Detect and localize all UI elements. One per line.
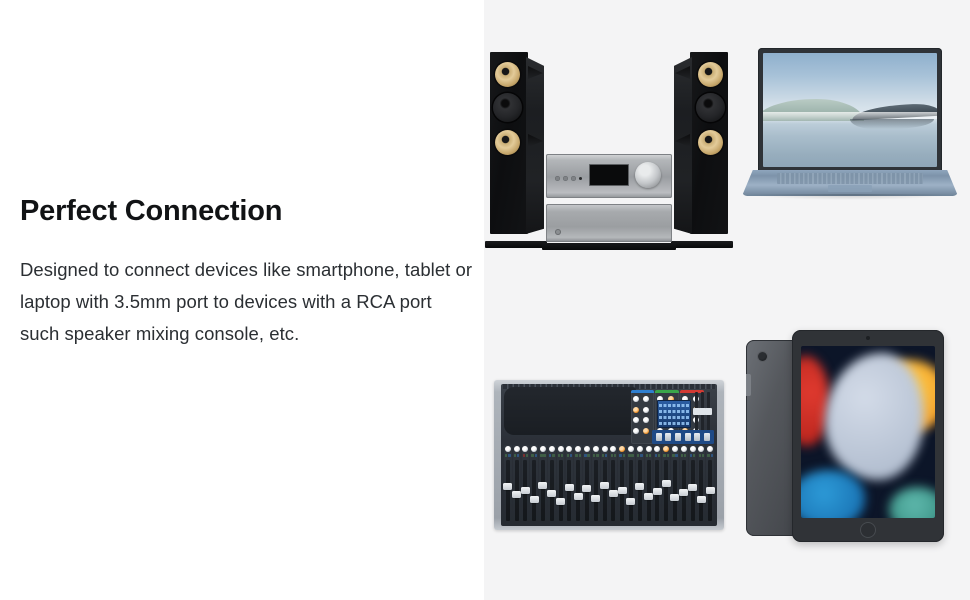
channel-strip xyxy=(698,445,706,523)
speaker-base-plinth xyxy=(485,241,547,248)
console-button-pad xyxy=(652,430,714,444)
console-knob xyxy=(643,417,649,423)
speaker-midrange-driver xyxy=(696,93,725,122)
channel-led xyxy=(663,454,665,457)
master-fader xyxy=(695,392,698,432)
channel-fader-cap xyxy=(626,498,635,505)
channel-led xyxy=(605,454,607,457)
channel-led xyxy=(684,454,686,457)
channel-led xyxy=(567,454,569,457)
console-button xyxy=(694,433,700,441)
channel-led xyxy=(637,454,639,457)
channel-strip xyxy=(592,445,600,523)
wallpaper-blob-grey xyxy=(825,353,924,480)
channel-led xyxy=(707,454,709,457)
channel-led xyxy=(667,454,669,457)
laptop-screen-bezel xyxy=(763,53,937,167)
channel-led xyxy=(655,454,657,457)
channel-led-row xyxy=(611,454,616,457)
master-fader xyxy=(707,392,710,432)
product-image-mixing-console xyxy=(484,300,734,562)
product-image-ipad-tablet xyxy=(730,300,970,562)
channel-strip xyxy=(557,445,565,523)
section-header-blue xyxy=(631,390,655,393)
channel-led xyxy=(552,454,554,457)
channel-strip xyxy=(539,445,547,523)
channel-gain-knob xyxy=(584,446,590,452)
channel-led-row xyxy=(505,454,510,457)
console-button xyxy=(675,433,681,441)
console-knob xyxy=(633,396,639,402)
channel-led-row xyxy=(549,454,554,457)
channel-led xyxy=(649,454,651,457)
channel-led xyxy=(540,454,542,457)
section-knob-grid xyxy=(633,396,653,441)
channel-strip xyxy=(548,445,556,523)
channel-fader-cap xyxy=(565,484,574,491)
channel-led xyxy=(711,454,713,457)
console-armrest xyxy=(504,387,636,435)
amplifier-buttons xyxy=(555,176,576,181)
channel-led-row xyxy=(663,454,668,457)
channel-fader-cap xyxy=(600,482,609,489)
channel-led-row xyxy=(540,454,545,457)
channel-led-row xyxy=(567,454,572,457)
master-fader xyxy=(701,392,704,432)
channel-led-row xyxy=(690,454,695,457)
channel-gain-knob xyxy=(522,446,528,452)
channel-gain-knob xyxy=(575,446,581,452)
channel-fader-track xyxy=(673,460,677,522)
channel-strip xyxy=(636,445,644,523)
channel-led xyxy=(517,454,519,457)
channel-led xyxy=(570,454,572,457)
channel-led xyxy=(623,454,625,457)
channel-fader-track xyxy=(611,460,615,522)
channel-strip xyxy=(513,445,521,523)
console-deck xyxy=(501,384,717,526)
channel-gain-knob xyxy=(646,446,652,452)
channel-led-row xyxy=(558,454,563,457)
front-camera-icon xyxy=(866,336,870,340)
channel-led xyxy=(646,454,648,457)
channel-fader-cap xyxy=(556,498,565,505)
channel-led-row xyxy=(699,454,704,457)
channel-strip xyxy=(689,445,697,523)
amplifier-stand xyxy=(542,243,676,250)
channel-strip xyxy=(530,445,538,523)
channel-gain-knob xyxy=(549,446,555,452)
channel-gain-knob xyxy=(707,446,713,452)
channel-led xyxy=(575,454,577,457)
channel-led xyxy=(523,454,525,457)
lcd-row xyxy=(659,416,689,419)
channel-gain-knob xyxy=(698,446,704,452)
channel-fader-cap xyxy=(670,494,679,501)
channel-led xyxy=(505,454,507,457)
laptop-base xyxy=(742,170,958,196)
channel-fader-track xyxy=(523,460,527,522)
channel-fader-track xyxy=(620,460,624,522)
camera-icon xyxy=(758,352,767,361)
speaker-tower-right xyxy=(676,52,728,242)
laptop-trackpad xyxy=(828,185,871,193)
channel-fader-cap xyxy=(688,484,697,491)
console-button xyxy=(656,433,662,441)
channel-led xyxy=(593,454,595,457)
power-amplifier-unit xyxy=(546,204,672,242)
channel-fader-track xyxy=(585,460,589,522)
channel-led xyxy=(584,454,586,457)
copy-block: Perfect Connection Designed to connect d… xyxy=(20,196,475,349)
channel-fader-cap xyxy=(503,483,512,490)
channel-fader-track xyxy=(699,460,703,522)
channel-gain-knob xyxy=(654,446,660,452)
channel-led-row xyxy=(531,454,536,457)
channel-gain-knob xyxy=(593,446,599,452)
speaker-base-plinth xyxy=(671,241,733,248)
channel-led xyxy=(543,454,545,457)
channel-strip xyxy=(610,445,618,523)
channel-strip xyxy=(645,445,653,523)
section-header-green xyxy=(655,390,679,393)
channel-led xyxy=(693,454,695,457)
channel-led xyxy=(672,454,674,457)
speaker-tweeter-cone xyxy=(698,62,723,87)
channel-gain-knob xyxy=(663,446,669,452)
ipad-antenna-band xyxy=(746,374,751,396)
laptop-keyboard xyxy=(777,173,924,183)
channel-led xyxy=(508,454,510,457)
amplifier-indicator-led xyxy=(579,177,582,180)
channel-fader-cap xyxy=(547,490,556,497)
channel-led-row xyxy=(602,454,607,457)
console-knob xyxy=(633,417,639,423)
channel-led xyxy=(658,454,660,457)
channel-gain-knob xyxy=(628,446,634,452)
mixing-console-illustration xyxy=(494,380,724,530)
laptop-illustration xyxy=(742,48,958,218)
channel-led xyxy=(596,454,598,457)
channel-led xyxy=(602,454,604,457)
channel-led-row xyxy=(575,454,580,457)
channel-strip xyxy=(618,445,626,523)
console-knob xyxy=(643,396,649,402)
channel-led xyxy=(614,454,616,457)
page-title: Perfect Connection xyxy=(20,196,475,228)
channel-fader-track xyxy=(506,460,510,522)
channel-gain-knob xyxy=(514,446,520,452)
channel-fader-track xyxy=(708,460,712,522)
channel-led xyxy=(579,454,581,457)
channel-fader-cap xyxy=(530,496,539,503)
channel-fader-track xyxy=(638,460,642,522)
channel-gain-knob xyxy=(690,446,696,452)
channel-led-row xyxy=(593,454,598,457)
channel-strip xyxy=(574,445,582,523)
channel-led xyxy=(558,454,560,457)
channel-led-row xyxy=(637,454,642,457)
channel-fader-cap xyxy=(618,487,627,494)
channel-led-row xyxy=(514,454,519,457)
channel-led xyxy=(675,454,677,457)
channel-led xyxy=(561,454,563,457)
channel-led xyxy=(535,454,537,457)
channel-fader-cap xyxy=(662,480,671,487)
channel-gain-knob xyxy=(681,446,687,452)
speaker-tweeter-cone xyxy=(495,62,520,87)
speaker-midrange-driver xyxy=(493,93,522,122)
channel-fader-cap xyxy=(512,491,521,498)
power-button-icon xyxy=(555,229,561,235)
channel-fader-track xyxy=(691,460,695,522)
channel-fader-cap xyxy=(591,495,600,502)
ipad-illustration xyxy=(744,330,956,542)
channel-fader-cap xyxy=(574,493,583,500)
amplifier-receiver-unit xyxy=(546,154,672,198)
channel-strip xyxy=(566,445,574,523)
channel-fader-track xyxy=(541,460,545,522)
channel-led-row xyxy=(655,454,660,457)
channel-strip xyxy=(522,445,530,523)
volume-knob xyxy=(635,162,661,188)
wallpaper-blob-blue xyxy=(801,470,865,518)
channel-fader-cap xyxy=(582,485,591,492)
amplifier-button xyxy=(571,176,576,181)
channel-gain-knob xyxy=(619,446,625,452)
product-image-hifi-speaker-system xyxy=(484,0,734,262)
channel-led-row xyxy=(619,454,624,457)
console-knob xyxy=(643,407,649,413)
channel-fader-track xyxy=(682,460,686,522)
channel-fader-track xyxy=(576,460,580,522)
ipad-front-view xyxy=(792,330,944,542)
channel-strip xyxy=(706,445,714,523)
channel-led-row xyxy=(523,454,528,457)
image-gallery-panel xyxy=(484,0,970,600)
channel-led xyxy=(611,454,613,457)
speaker-tower-left xyxy=(490,52,542,242)
console-lcd-display xyxy=(657,400,691,428)
wallpaper-blob-teal xyxy=(889,487,935,518)
channel-strip xyxy=(627,445,635,523)
speaker-woofer-cone xyxy=(495,130,520,155)
channel-strip xyxy=(583,445,591,523)
home-button-icon xyxy=(860,522,876,538)
amplifier-stack xyxy=(546,154,672,242)
channel-strip xyxy=(680,445,688,523)
console-knob xyxy=(633,407,639,413)
console-button xyxy=(685,433,691,441)
lcd-row xyxy=(659,422,689,425)
channel-led-row xyxy=(707,454,712,457)
channel-fader-track xyxy=(664,460,668,522)
channel-led xyxy=(702,454,704,457)
laptop-shadow xyxy=(746,194,954,200)
product-feature-banner: Perfect Connection Designed to connect d… xyxy=(0,0,970,600)
hifi-illustration xyxy=(484,0,734,262)
ipad-screen-wallpaper xyxy=(801,346,935,518)
laptop-lid xyxy=(758,48,942,172)
channel-strip xyxy=(671,445,679,523)
channel-fader-track xyxy=(567,460,571,522)
channel-led xyxy=(628,454,630,457)
channel-led xyxy=(681,454,683,457)
channel-strip xyxy=(504,445,512,523)
channel-led xyxy=(640,454,642,457)
channel-led-row xyxy=(628,454,633,457)
channel-gain-knob xyxy=(558,446,564,452)
channel-gain-knob xyxy=(602,446,608,452)
channel-led-row xyxy=(672,454,677,457)
amplifier-button xyxy=(555,176,560,181)
console-section-blue xyxy=(631,390,655,444)
channel-strip xyxy=(601,445,609,523)
console-knob xyxy=(633,428,639,434)
channel-gain-knob xyxy=(672,446,678,452)
channel-fader-track xyxy=(559,460,563,522)
channel-fader-cap xyxy=(538,482,547,489)
channel-led-row xyxy=(646,454,651,457)
channel-led xyxy=(619,454,621,457)
channel-led xyxy=(526,454,528,457)
channel-gain-knob xyxy=(540,446,546,452)
channel-fader-track xyxy=(647,460,651,522)
description-text: Designed to connect devices like smartph… xyxy=(20,254,475,349)
channel-fader-track xyxy=(603,460,607,522)
channel-strip xyxy=(662,445,670,523)
console-channel-strips xyxy=(504,445,714,523)
channel-strip xyxy=(654,445,662,523)
channel-fader-track xyxy=(515,460,519,522)
lcd-row xyxy=(659,404,689,407)
channel-led-row xyxy=(584,454,589,457)
channel-gain-knob xyxy=(566,446,572,452)
channel-led xyxy=(549,454,551,457)
channel-fader-cap xyxy=(521,487,530,494)
channel-fader-track xyxy=(550,460,554,522)
channel-fader-cap xyxy=(679,489,688,496)
channel-led xyxy=(531,454,533,457)
channel-fader-cap xyxy=(635,483,644,490)
channel-fader-cap xyxy=(697,496,706,503)
channel-gain-knob xyxy=(610,446,616,452)
amplifier-button xyxy=(563,176,568,181)
channel-gain-knob xyxy=(505,446,511,452)
amplifier-display-screen xyxy=(589,164,629,186)
console-button xyxy=(665,433,671,441)
channel-fader-cap xyxy=(609,490,618,497)
channel-led xyxy=(514,454,516,457)
product-image-surface-laptop xyxy=(730,0,970,262)
console-knob xyxy=(643,428,649,434)
laptop-wallpaper xyxy=(763,53,937,167)
channel-led-row xyxy=(681,454,686,457)
channel-fader-track xyxy=(655,460,659,522)
channel-fader-cap xyxy=(653,488,662,495)
channel-fader-cap xyxy=(644,493,653,500)
channel-gain-knob xyxy=(637,446,643,452)
channel-gain-knob xyxy=(531,446,537,452)
speaker-woofer-cone xyxy=(698,130,723,155)
channel-led xyxy=(699,454,701,457)
channel-fader-track xyxy=(532,460,536,522)
console-button xyxy=(704,433,710,441)
channel-fader-track xyxy=(629,460,633,522)
lcd-row xyxy=(659,410,689,413)
channel-led xyxy=(690,454,692,457)
channel-led xyxy=(587,454,589,457)
text-panel: Perfect Connection Designed to connect d… xyxy=(0,0,484,600)
channel-led xyxy=(631,454,633,457)
channel-fader-track xyxy=(594,460,598,522)
channel-fader-cap xyxy=(706,487,715,494)
